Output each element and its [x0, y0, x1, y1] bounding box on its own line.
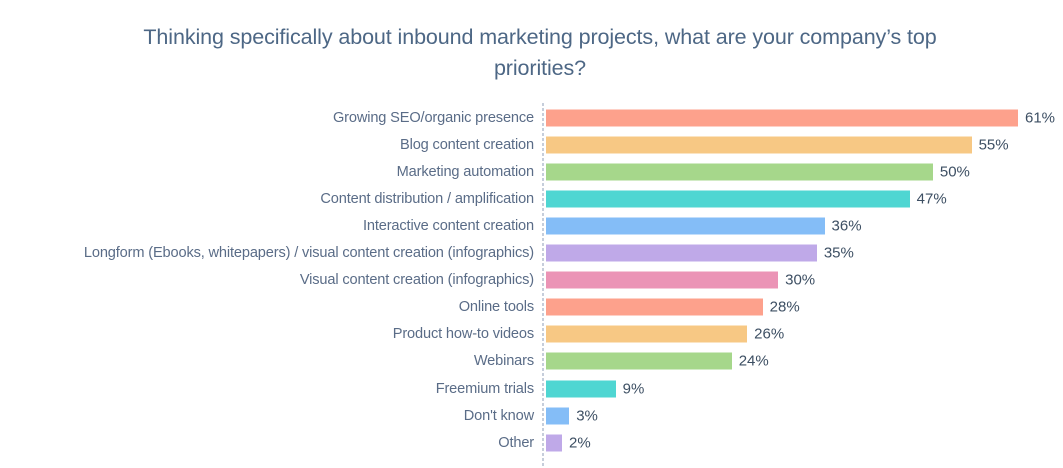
bar-track	[546, 434, 562, 451]
bar-fill[interactable]	[546, 434, 562, 451]
category-label: Online tools	[459, 299, 534, 315]
value-label: 26%	[754, 326, 784, 343]
bar-track	[546, 136, 972, 153]
category-label: Webinars	[474, 353, 534, 369]
bar-row: Content distribution / amplification47%	[0, 185, 1063, 212]
category-label: Product how-to videos	[393, 326, 534, 342]
bar-fill[interactable]	[546, 380, 616, 397]
bar-row: Online tools28%	[0, 294, 1063, 321]
value-label: 3%	[576, 407, 598, 424]
bar-row: Other2%	[0, 429, 1063, 456]
bar-row: Product how-to videos26%	[0, 321, 1063, 348]
category-label: Growing SEO/organic presence	[333, 110, 534, 126]
value-label: 9%	[623, 380, 645, 397]
value-label: 30%	[785, 272, 815, 289]
bar-fill[interactable]	[546, 272, 778, 289]
plot-area: Growing SEO/organic presence61%Blog cont…	[0, 103, 1063, 468]
bar-track	[546, 217, 825, 234]
bar-fill[interactable]	[546, 245, 817, 262]
value-label: 35%	[824, 245, 854, 262]
bar-fill[interactable]	[546, 136, 972, 153]
category-label: Blog content creation	[400, 137, 534, 153]
bar-row: Growing SEO/organic presence61%	[0, 104, 1063, 131]
category-label: Don't know	[464, 408, 534, 424]
category-label: Marketing automation	[397, 164, 534, 180]
category-label: Content distribution / amplification	[320, 191, 534, 207]
bar-track	[546, 299, 763, 316]
value-label: 28%	[770, 299, 800, 316]
value-label: 55%	[979, 136, 1009, 153]
bar-row: Don't know3%	[0, 402, 1063, 429]
category-label: Longform (Ebooks, whitepapers) / visual …	[84, 245, 534, 261]
bar-track	[546, 353, 732, 370]
bar-row: Freemium trials9%	[0, 375, 1063, 402]
bar-track	[546, 109, 1018, 126]
bar-row: Webinars24%	[0, 348, 1063, 375]
category-label: Interactive content creation	[363, 218, 534, 234]
bar-fill[interactable]	[546, 407, 569, 424]
value-label: 36%	[832, 217, 862, 234]
value-label: 2%	[569, 434, 591, 451]
bar-fill[interactable]	[546, 217, 825, 234]
bar-chart: Thinking specifically about inbound mark…	[0, 0, 1063, 468]
bar-track	[546, 245, 817, 262]
bar-fill[interactable]	[546, 163, 933, 180]
bar-fill[interactable]	[546, 299, 763, 316]
bar-track	[546, 380, 616, 397]
value-label: 47%	[917, 190, 947, 207]
bar-row: Marketing automation50%	[0, 158, 1063, 185]
category-label: Other	[498, 435, 534, 451]
bar-fill[interactable]	[546, 190, 910, 207]
category-label: Visual content creation (infographics)	[300, 272, 534, 288]
bar-track	[546, 190, 910, 207]
bar-track	[546, 272, 778, 289]
value-label: 24%	[739, 353, 769, 370]
bar-fill[interactable]	[546, 109, 1018, 126]
category-label: Freemium trials	[436, 381, 534, 397]
chart-title: Thinking specifically about inbound mark…	[140, 22, 940, 84]
bar-row: Blog content creation55%	[0, 131, 1063, 158]
bar-row: Longform (Ebooks, whitepapers) / visual …	[0, 240, 1063, 267]
bar-track	[546, 326, 747, 343]
value-label: 61%	[1025, 109, 1055, 126]
bar-track	[546, 163, 933, 180]
bar-row: Visual content creation (infographics)30…	[0, 267, 1063, 294]
value-label: 50%	[940, 163, 970, 180]
bar-row: Interactive content creation36%	[0, 212, 1063, 239]
bar-fill[interactable]	[546, 326, 747, 343]
bar-fill[interactable]	[546, 353, 732, 370]
bar-track	[546, 407, 569, 424]
